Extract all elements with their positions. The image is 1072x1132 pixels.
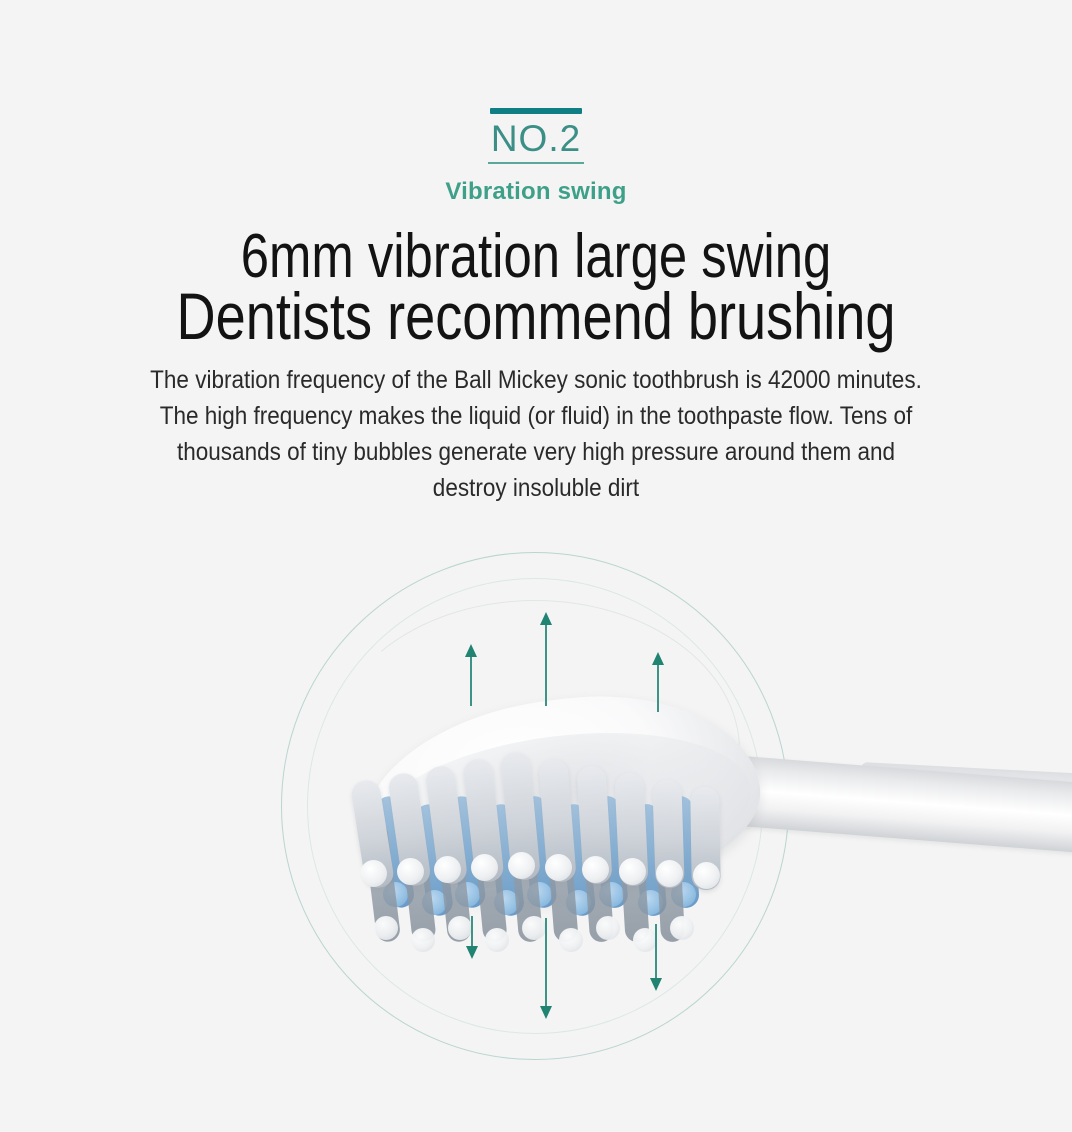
arrow-up-center-head — [540, 612, 552, 625]
arrow-up-right — [657, 662, 659, 712]
arrow-down-right — [655, 924, 657, 978]
badge-block: NO.2 Vibration swing — [0, 108, 1072, 206]
body-line-2: The high frequency makes the liquid (or … — [95, 398, 977, 434]
headline-line-1: 6mm vibration large swing — [96, 228, 975, 286]
arrow-up-center — [545, 622, 547, 706]
body-line-3: thousands of tiny bubbles generate very … — [95, 434, 977, 470]
body-line-4: destroy insoluble dirt — [95, 470, 977, 506]
arrow-down-left — [471, 916, 473, 946]
body-line-1: The vibration frequency of the Ball Mick… — [95, 362, 977, 398]
motion-arrows — [340, 540, 770, 1060]
badge-rule-top-divider — [490, 108, 582, 114]
page-title: 6mm vibration large swing Dentists recom… — [0, 228, 1072, 347]
body-paragraph: The vibration frequency of the Ball Mick… — [46, 362, 1026, 506]
arrow-down-left-head — [466, 946, 478, 959]
arrow-up-left — [470, 654, 472, 706]
arrow-up-right-head — [652, 652, 664, 665]
badge-rule-bottom-divider — [488, 162, 584, 164]
arrow-down-right-head — [650, 978, 662, 991]
product-feature-page: NO.2 Vibration swing 6mm vibration large… — [0, 0, 1072, 1132]
badge-number: NO.2 — [0, 120, 1072, 159]
badge-subtitle: Vibration swing — [0, 178, 1072, 206]
arrow-up-left-head — [465, 644, 477, 657]
arrow-down-center — [545, 918, 547, 1006]
headline-line-2: Dentists recommend brushing — [96, 286, 975, 347]
toothbrush-illustration — [0, 540, 1072, 1100]
arrow-down-center-head — [540, 1006, 552, 1019]
